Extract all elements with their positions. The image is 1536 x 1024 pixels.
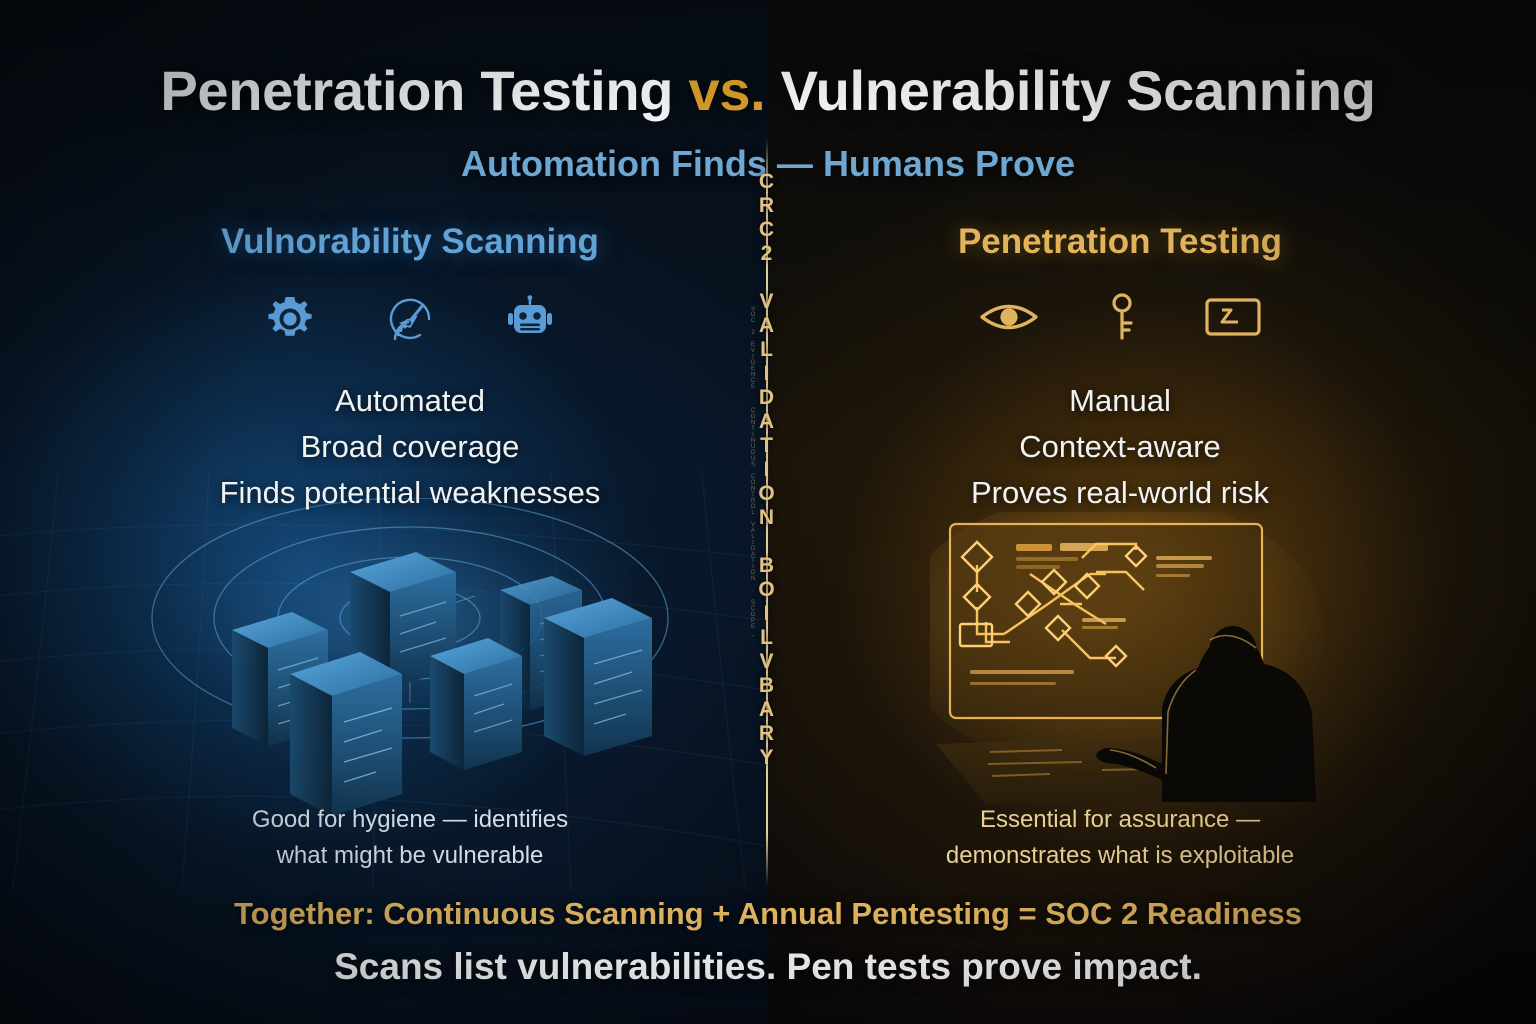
left-icon-row bbox=[130, 292, 690, 346]
right-column-heading: Penetration Testing bbox=[840, 222, 1400, 262]
terminal-icon bbox=[1204, 296, 1262, 338]
scanning-illustration bbox=[120, 498, 740, 818]
tagline: Scans list vulnerabilities. Pen tests pr… bbox=[0, 946, 1536, 988]
right-footnote-line-2: demonstrates what is exploitable bbox=[840, 838, 1400, 874]
left-bullet-2: Broad coverage bbox=[130, 424, 690, 470]
left-bullet-1: Automated bbox=[130, 378, 690, 424]
poster-title: Penetration Testing vs. Vulnerability Sc… bbox=[0, 58, 1536, 123]
left-footnote: Good for hygiene — identifies what might… bbox=[130, 802, 690, 874]
poster-subtitle: Automation Finds — Humans Prove bbox=[0, 143, 1536, 185]
robot-icon bbox=[503, 292, 557, 346]
eye-icon bbox=[978, 294, 1040, 340]
right-footnote-line-1: Essential for assurance — bbox=[840, 802, 1400, 838]
left-footnote-line-2: what might be vulnerable bbox=[130, 838, 690, 874]
right-bullet-1: Manual bbox=[840, 378, 1400, 424]
left-bullets: Automated Broad coverage Finds potential… bbox=[130, 378, 690, 516]
together-statement: Together: Continuous Scanning + Annual P… bbox=[0, 896, 1536, 932]
pentest-illustration bbox=[930, 512, 1370, 812]
right-bullet-2: Context-aware bbox=[840, 424, 1400, 470]
title-part-2: Vulnerability Scanning bbox=[765, 59, 1375, 122]
title-part-1: Penetration Testing bbox=[160, 59, 688, 122]
gear-icon bbox=[263, 292, 317, 346]
infographic-poster: Penetration Testing vs. Vulnerability Sc… bbox=[0, 0, 1536, 1024]
left-bullet-3: Finds potential weaknesses bbox=[130, 470, 690, 516]
right-bullets: Manual Context-aware Proves real-world r… bbox=[840, 378, 1400, 516]
left-footnote-line-1: Good for hygiene — identifies bbox=[130, 802, 690, 838]
center-divider-line bbox=[766, 138, 768, 886]
left-column-heading: Vulnorability Scanning bbox=[130, 222, 690, 262]
right-bullet-3: Proves real-world risk bbox=[840, 470, 1400, 516]
key-icon bbox=[1106, 292, 1138, 342]
title-vs: vs. bbox=[688, 59, 765, 122]
right-footnote: Essential for assurance — demonstrates w… bbox=[840, 802, 1400, 874]
right-icon-row bbox=[840, 292, 1400, 342]
radar-dish-icon bbox=[383, 292, 437, 346]
